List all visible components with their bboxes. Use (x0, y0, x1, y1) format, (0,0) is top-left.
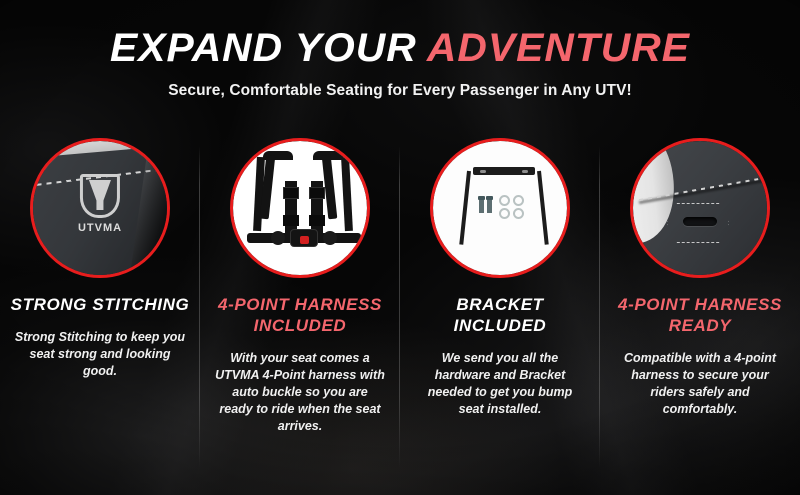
harness-hardware-left (271, 231, 285, 245)
headline-part-one: EXPAND YOUR (110, 26, 417, 70)
utvma-wordmark: UTVMA (78, 222, 122, 234)
feature-image-harness (230, 138, 370, 278)
feature-title-bracket-included: BRACKET INCLUDED (408, 294, 592, 336)
bolt-icon (479, 196, 484, 213)
feature-item-bracket-included: BRACKET INCLUDED We send you all the har… (400, 138, 600, 478)
feature-item-harness-ready: 4-POINT HARNESS READY Compatible with a … (600, 138, 800, 478)
harness-release-button-icon (300, 236, 309, 244)
bolt-hardware-group (479, 196, 492, 213)
harness-pass-through-slot (683, 217, 717, 226)
bracket-hole-right (522, 170, 528, 173)
feature-image-bracket (430, 138, 570, 278)
feature-list: UTVMA STRONG STITCHING Strong Stitching … (0, 138, 800, 478)
feature-title-strong-stitching: STRONG STITCHING (11, 294, 190, 315)
bolt-icon (487, 196, 492, 213)
harness-adjuster-lower-left (283, 215, 299, 226)
page-subtitle: Secure, Comfortable Seating for Every Pa… (0, 82, 800, 100)
washer-hardware-group (499, 195, 525, 219)
washer-icon (513, 208, 524, 219)
feature-title-harness-included: 4-POINT HARNESS INCLUDED (208, 294, 392, 336)
feature-description-strong-stitching: Strong Stitching to keep you seat strong… (14, 329, 186, 380)
washer-icon (499, 195, 510, 206)
headline-part-two: ADVENTURE (427, 26, 690, 70)
feature-item-harness-included: 4-POINT HARNESS INCLUDED With your seat … (200, 138, 400, 478)
harness-adjuster-lower-right (309, 215, 325, 226)
harness-hardware-right (323, 231, 337, 245)
banner-header: EXPAND YOURADVENTURE Secure, Comfortable… (0, 0, 800, 100)
feature-description-harness-ready: Compatible with a 4-point harness to sec… (614, 350, 786, 418)
promo-banner: EXPAND YOURADVENTURE Secure, Comfortable… (0, 0, 800, 495)
feature-item-strong-stitching: UTVMA STRONG STITCHING Strong Stitching … (0, 138, 200, 478)
utvma-logo: UTVMA (78, 174, 122, 234)
washer-icon (499, 208, 510, 219)
bracket-hole-left (480, 170, 486, 173)
shield-icon (80, 174, 120, 218)
feature-title-harness-ready: 4-POINT HARNESS READY (608, 294, 792, 336)
harness-adjuster-upper-right (309, 187, 325, 199)
washer-icon (513, 195, 524, 206)
feature-image-harness-ready (630, 138, 770, 278)
harness-adjuster-upper-left (283, 187, 299, 199)
page-title: EXPAND YOURADVENTURE (0, 26, 800, 70)
feature-description-harness-included: With your seat comes a UTVMA 4-Point har… (214, 350, 386, 435)
feature-description-bracket-included: We send you all the hardware and Bracket… (414, 350, 586, 418)
feature-image-strong-stitching: UTVMA (30, 138, 170, 278)
